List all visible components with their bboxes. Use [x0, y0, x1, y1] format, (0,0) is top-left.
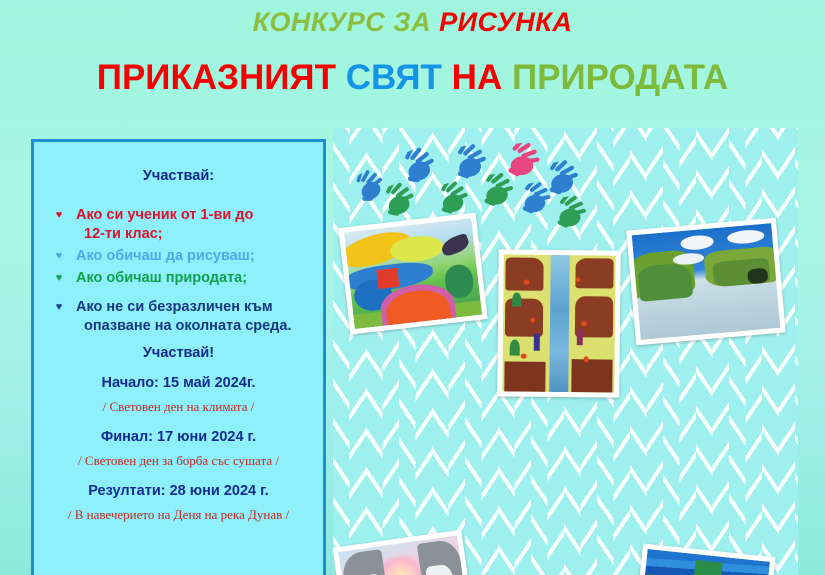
poster-subtitle-line: КОНКУРС ЗА РИСУНКА: [0, 0, 825, 39]
title-prirodata: ПРИРОДАТА: [512, 58, 728, 97]
call-to-action-text: Участвай!: [42, 345, 315, 361]
date-label: Начало: 15 май 2024г.: [42, 375, 315, 391]
artwork-lake-forest: [626, 218, 785, 346]
heart-icon: ♥: [42, 247, 76, 266]
eligibility-bullet-text: Ако не си безразличен къмопазване на око…: [76, 298, 315, 336]
poster-main-title-line: ПРИКАЗНИЯТ СВЯТ НА ПРИРОДАТА: [0, 39, 825, 100]
eligibility-bullet-text-line2: опазване на околната среда.: [76, 317, 309, 336]
handprint-icon: [497, 141, 543, 187]
eligibility-bullet-item: ♥Ако си ученик от 1-ви до12-ти клас;: [42, 206, 315, 244]
date-note: / В навечерието на Деня на река Дунав /: [42, 507, 315, 523]
title-svyat: СВЯТ: [346, 58, 442, 97]
artwork-waterfall-autumn: [497, 249, 621, 397]
date-label: Резултати: 28 юни 2024 г.: [42, 483, 315, 499]
artwork-village-bridge: [338, 213, 487, 335]
info-panel: Участвай: ♥Ако си ученик от 1-ви до12-ти…: [31, 139, 326, 575]
date-label: Финал: 17 юни 2024 г.: [42, 429, 315, 445]
poster-title-block: КОНКУРС ЗА РИСУНКА ПРИКАЗНИЯТ СВЯТ НА ПР…: [0, 0, 825, 100]
title-risunka: РИСУНКА: [439, 7, 572, 37]
date-note: / Световен ден за борба със сушата /: [42, 453, 315, 469]
eligibility-bullet-text: Ако обичаш да рисуваш;: [76, 247, 315, 266]
heart-icon: ♥: [42, 298, 76, 317]
panel-heading: Участвай:: [42, 168, 315, 184]
eligibility-bullet-list: ♥Ако си ученик от 1-ви до12-ти клас;♥Ако…: [42, 206, 315, 336]
title-na: НА: [452, 58, 503, 97]
title-prikazniyat: ПРИКАЗНИЯТ: [97, 58, 336, 97]
eligibility-bullet-item: ♥Ако обичаш природата;: [42, 269, 315, 288]
title-konkurs-za: КОНКУРС ЗА: [253, 7, 431, 37]
heart-icon: ♥: [42, 206, 76, 225]
dates-block: Начало: 15 май 2024г./ Световен ден на к…: [42, 375, 315, 523]
handprint-icon: [545, 194, 590, 240]
eligibility-bullet-text-line2: 12-ти клас;: [76, 225, 309, 244]
artwork-collage-panel: [333, 128, 798, 575]
eligibility-bullet-text: Ако обичаш природата;: [76, 269, 315, 288]
date-note: / Световен ден на климата /: [42, 399, 315, 415]
heart-icon: ♥: [42, 269, 76, 288]
poster-canvas: КОНКУРС ЗА РИСУНКА ПРИКАЗНИЯТ СВЯТ НА ПР…: [0, 0, 825, 575]
eligibility-bullet-text: Ако си ученик от 1-ви до12-ти клас;: [76, 206, 315, 244]
eligibility-bullet-item: ♥Ако не си безразличен къмопазване на ок…: [42, 298, 315, 336]
eligibility-bullet-item: ♥Ако обичаш да рисуваш;: [42, 247, 315, 266]
